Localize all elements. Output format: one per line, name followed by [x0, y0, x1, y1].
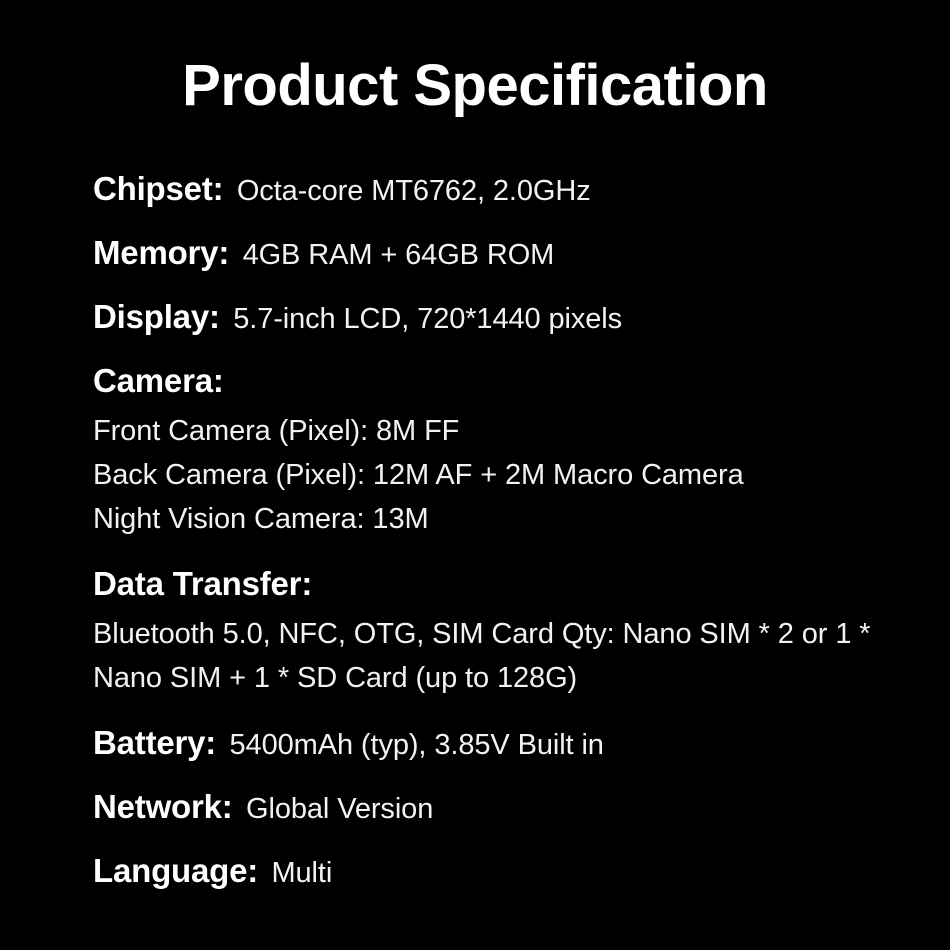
spec-label-display: Display:: [93, 298, 229, 335]
spec-row-chipset: Chipset: Octa-core MT6762, 2.0GHz: [93, 172, 893, 206]
spec-label-battery: Battery:: [93, 724, 225, 761]
spec-label-camera: Camera:: [93, 364, 893, 397]
spec-value-network: Global Version: [246, 793, 433, 825]
spec-row-data-transfer: Data Transfer: Bluetooth 5.0, NFC, OTG, …: [93, 567, 893, 700]
product-specification-sheet: Product Specification Chipset: Octa-core…: [0, 0, 950, 950]
page-title: Product Specification: [0, 56, 950, 117]
spec-detail-night-vision-camera: Night Vision Camera: 13M: [93, 497, 893, 541]
spec-row-camera: Camera: Front Camera (Pixel): 8M FF Back…: [93, 364, 893, 541]
spec-list: Chipset: Octa-core MT6762, 2.0GHz Memory…: [93, 172, 893, 888]
spec-detail-back-camera: Back Camera (Pixel): 12M AF + 2M Macro C…: [93, 453, 893, 497]
spec-label-memory: Memory:: [93, 234, 238, 271]
spec-label-network: Network:: [93, 788, 242, 825]
spec-label-chipset: Chipset:: [93, 170, 232, 207]
spec-value-memory: 4GB RAM + 64GB ROM: [243, 239, 555, 271]
spec-label-data-transfer: Data Transfer:: [93, 567, 893, 600]
spec-value-display: 5.7-inch LCD, 720*1440 pixels: [233, 303, 622, 335]
spec-value-chipset: Octa-core MT6762, 2.0GHz: [237, 175, 591, 207]
spec-row-language: Language: Multi: [93, 854, 893, 888]
spec-value-battery: 5400mAh (typ), 3.85V Built in: [230, 729, 604, 761]
spec-detail-data-transfer: Bluetooth 5.0, NFC, OTG, SIM Card Qty: N…: [93, 612, 883, 700]
spec-row-display: Display: 5.7-inch LCD, 720*1440 pixels: [93, 300, 893, 334]
spec-value-language: Multi: [271, 857, 332, 889]
spec-detail-front-camera: Front Camera (Pixel): 8M FF: [93, 409, 893, 453]
spec-row-battery: Battery: 5400mAh (typ), 3.85V Built in: [93, 726, 893, 760]
spec-row-network: Network: Global Version: [93, 790, 893, 824]
spec-label-language: Language:: [93, 852, 267, 889]
spec-row-memory: Memory: 4GB RAM + 64GB ROM: [93, 236, 893, 270]
